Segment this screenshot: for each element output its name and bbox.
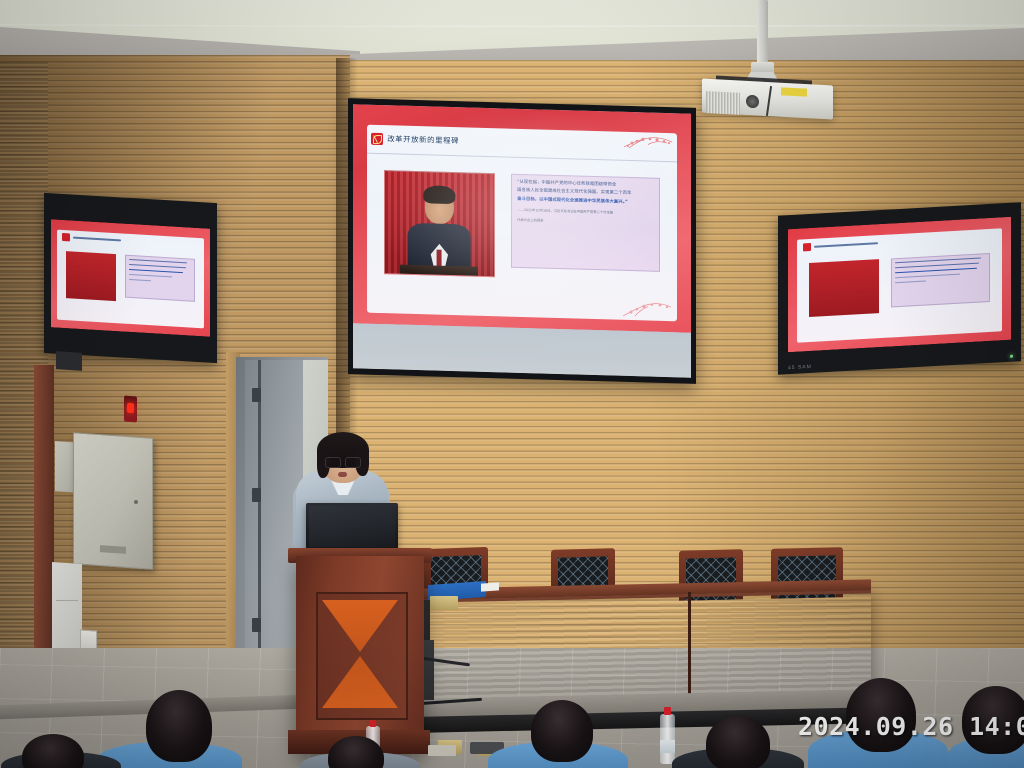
mirrored-slide-quote: [891, 253, 989, 308]
water-bottle: [660, 714, 675, 764]
slide-photo-hair: [424, 185, 455, 204]
mirrored-attrib-line: [895, 280, 926, 283]
audience-member: [146, 690, 212, 762]
projection-screen: 改革开放新的里程碑: [348, 98, 696, 384]
audience-member: [531, 700, 593, 762]
desk-object: [428, 745, 456, 756]
projection-screen-surface: 改革开放新的里程碑: [353, 104, 691, 377]
paper-sheet: [481, 582, 499, 591]
mirrored-slide: [51, 219, 210, 336]
screen-unlit-area: [353, 323, 691, 377]
mirrored-quote-line: [129, 263, 186, 268]
wall-monitor-left: [44, 193, 217, 363]
glasses-icon: [325, 457, 361, 467]
projector-lens: [746, 95, 759, 109]
wall-monitor-right-brand: 45 SAM: [788, 364, 812, 371]
mirrored-quote-line: [129, 268, 184, 273]
power-led-icon: [1010, 355, 1013, 358]
projected-slide: 改革开放新的里程碑: [353, 104, 691, 333]
slide-photo-podium: [400, 264, 478, 275]
cpc-hammer-sickle-icon: [62, 233, 70, 241]
wall-monitor-left-mount: [56, 351, 82, 371]
mirrored-slide-photo: [66, 251, 116, 301]
mirrored-slide-title: [803, 237, 878, 255]
mirrored-attrib-line: [129, 278, 151, 281]
wood-block: [430, 596, 458, 610]
slide-attribution-line: ——2022年10月16日，习近平总书记在中国共产党第二十次全国: [517, 207, 654, 218]
projector-vent-grille: [706, 91, 740, 115]
wood-pillar-left-lower: [34, 365, 54, 695]
slide-quote-box: “从现在起，中国共产党的中心任务就是团结带领全 国各族人民全面建成社会主义现代化…: [511, 174, 660, 272]
presenter-mouth: [338, 472, 347, 477]
door-hinge: [252, 488, 261, 502]
conference-room-photo: 改革开放新的里程碑: [0, 0, 1024, 768]
wall-monitor-right: 45 SAM: [778, 202, 1021, 375]
door-hinge: [252, 618, 261, 632]
mirrored-slide-quote: [125, 254, 195, 302]
cpc-hammer-sickle-icon: [803, 243, 811, 251]
camera-timestamp: 2024.09.26 14:04: [798, 712, 1024, 741]
mirrored-attrib-line: [895, 273, 960, 278]
projector-yellow-label: [781, 87, 807, 96]
audience-member: [706, 716, 770, 768]
mirrored-slide-card: [57, 229, 203, 328]
mirrored-attrib-line: [129, 273, 173, 277]
mirrored-title-text: [73, 237, 121, 242]
cabinet-seam: [56, 600, 78, 601]
door-edge: [258, 360, 261, 654]
podium-monitor-screen: [309, 506, 395, 547]
slide-card: 改革开放新的里程碑: [367, 124, 677, 321]
mirrored-slide-photo: [809, 259, 879, 317]
mirrored-slide-title: [62, 231, 121, 246]
slide-title: 改革开放新的里程碑: [387, 134, 459, 147]
cpc-hammer-sickle-icon: [371, 133, 383, 145]
panel-lock-knob[interactable]: [134, 500, 138, 504]
wall-monitor-left-panel: [51, 219, 210, 336]
wall-monitor-right-panel: [788, 217, 1011, 352]
slide-photo-speaker: [384, 170, 494, 277]
plum-blossom-ornament-icon: [620, 133, 674, 151]
plum-blossom-ornament-bottom-icon: [621, 296, 673, 319]
mirrored-title-text: [814, 243, 878, 249]
red-alarm-indicator: [124, 396, 137, 423]
mirrored-quote-line: [129, 258, 187, 263]
mirrored-quote-line: [895, 267, 976, 273]
door-hinge: [252, 388, 261, 402]
desk-panel-seam: [688, 592, 691, 700]
mirrored-slide-card: [797, 228, 1002, 343]
wooden-lectern: [296, 556, 424, 754]
mirrored-slide: [788, 217, 1011, 352]
slide-attribution-line: 代表大会上的报告: [517, 217, 654, 228]
